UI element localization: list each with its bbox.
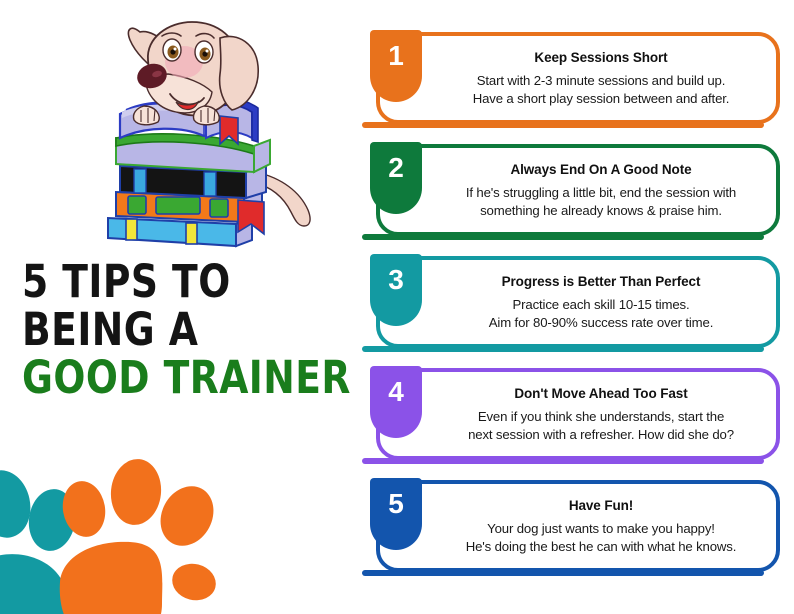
page-title: 5 TIPS TO BEING A GOOD TRAINER xyxy=(22,258,352,402)
tip-title: Always End On A Good Note xyxy=(510,161,691,178)
tip-body-line: Practice each skill 10-15 times. xyxy=(489,296,713,314)
tip-body: Start with 2-3 minute sessions and build… xyxy=(473,72,730,108)
tip-number: 5 xyxy=(388,478,404,518)
tip-number: 1 xyxy=(388,30,404,70)
tip-body-line: He's doing the best he can with what he … xyxy=(466,538,737,556)
tip-card[interactable]: 2 Always End On A Good Note If he's stru… xyxy=(362,142,780,246)
dog-on-book-stack-illustration xyxy=(86,14,336,256)
tip-body-line: something he already knows & praise him. xyxy=(466,202,736,220)
tip-card[interactable]: 1 Keep Sessions Short Start with 2-3 min… xyxy=(362,30,780,134)
tip-body: Even if you think she understands, start… xyxy=(468,408,734,444)
tip-body-line: Have a short play session between and af… xyxy=(473,90,730,108)
dog-ear-right xyxy=(220,36,259,110)
tip-text-block: Always End On A Good Note If he's strugg… xyxy=(424,144,778,236)
tip-body-line: Your dog just wants to make you happy! xyxy=(466,520,737,538)
tip-number-badge: 2 xyxy=(370,142,422,214)
tip-number: 2 xyxy=(388,142,404,182)
tip-title: Don't Move Ahead Too Fast xyxy=(514,385,687,402)
tip-title: Progress is Better Than Perfect xyxy=(502,273,701,290)
tips-list: 1 Keep Sessions Short Start with 2-3 min… xyxy=(362,30,780,590)
tip-body-line: If he's struggling a little bit, end the… xyxy=(466,184,736,202)
tip-text-block: Progress is Better Than Perfect Practice… xyxy=(424,256,778,348)
tip-card[interactable]: 3 Progress is Better Than Perfect Practi… xyxy=(362,254,780,358)
tip-body: If he's struggling a little bit, end the… xyxy=(466,184,736,220)
left-column: 5 TIPS TO BEING A GOOD TRAINER xyxy=(0,0,355,614)
tip-body-line: next session with a refresher. How did s… xyxy=(468,426,734,444)
tip-title: Have Fun! xyxy=(569,497,633,514)
paw-print-orange-icon xyxy=(58,457,223,614)
tip-text-block: Don't Move Ahead Too Fast Even if you th… xyxy=(424,368,778,460)
title-line-1: 5 TIPS TO xyxy=(22,258,329,306)
infographic-poster: 5 TIPS TO BEING A GOOD TRAINER xyxy=(0,0,794,614)
tip-body-line: Aim for 80-90% success rate over time. xyxy=(489,314,713,332)
tip-card[interactable]: 5 Have Fun! Your dog just wants to make … xyxy=(362,478,780,582)
title-line-2: BEING A xyxy=(22,306,329,354)
tip-number-badge: 5 xyxy=(370,478,422,550)
tip-body: Practice each skill 10-15 times. Aim for… xyxy=(489,296,713,332)
tip-number-badge: 1 xyxy=(370,30,422,102)
tip-body-line: Start with 2-3 minute sessions and build… xyxy=(473,72,730,90)
tip-number-badge: 4 xyxy=(370,366,422,438)
double-paw-print-icon xyxy=(0,452,244,614)
tip-number: 3 xyxy=(388,254,404,294)
tip-card[interactable]: 4 Don't Move Ahead Too Fast Even if you … xyxy=(362,366,780,470)
tip-number-badge: 3 xyxy=(370,254,422,326)
book-green xyxy=(116,134,270,172)
tip-body: Your dog just wants to make you happy! H… xyxy=(466,520,737,556)
title-line-3: GOOD TRAINER xyxy=(22,354,329,402)
tip-number: 4 xyxy=(388,366,404,406)
tip-title: Keep Sessions Short xyxy=(534,49,667,66)
tip-body-line: Even if you think she understands, start… xyxy=(468,408,734,426)
tip-text-block: Keep Sessions Short Start with 2-3 minut… xyxy=(424,32,778,124)
tip-text-block: Have Fun! Your dog just wants to make yo… xyxy=(424,480,778,572)
